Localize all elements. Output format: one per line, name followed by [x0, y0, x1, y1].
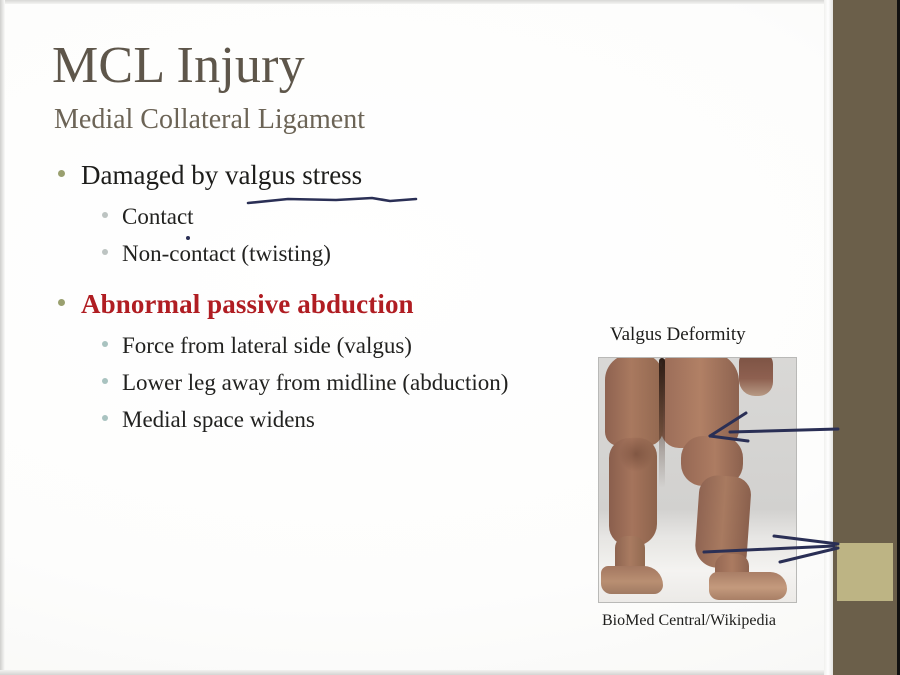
- bullet-dot-icon: [102, 341, 108, 347]
- bullet-dot-icon: [58, 299, 65, 306]
- bullet-level1-emphasis: Abnormal passive abduction: [58, 289, 598, 331]
- band-gap: [824, 0, 833, 675]
- bullet-level2: Non-contact (twisting): [58, 241, 598, 277]
- bullet-dot-icon: [102, 249, 108, 255]
- left-thigh-shape: [605, 357, 663, 446]
- bullet-level1: Damaged by valgus stress: [58, 160, 598, 202]
- page-edge-bottom: [0, 670, 900, 675]
- bullet-content: Damaged by valgus stress Contact Non-con…: [58, 160, 598, 444]
- bullet-group-2: Abnormal passive abduction Force from la…: [58, 289, 598, 443]
- figure-photo: [598, 357, 797, 603]
- bullet-level2-label: Non-contact (twisting): [122, 241, 331, 267]
- bullet-level2-label: Lower leg away from midline (abduction): [122, 370, 508, 396]
- bullet-group-1: Damaged by valgus stress Contact Non-con…: [58, 160, 598, 277]
- slide-canvas: MCL Injury Medial Collateral Ligament Da…: [0, 0, 900, 675]
- page-subtitle: Medial Collateral Ligament: [54, 104, 365, 136]
- left-knee-shading: [619, 436, 653, 472]
- bullet-level1-label: Damaged by valgus stress: [81, 160, 362, 191]
- bullet-dot-icon: [102, 378, 108, 384]
- bullet-level2-label: Force from lateral side (valgus): [122, 333, 412, 359]
- bullet-level2: Force from lateral side (valgus): [58, 333, 598, 369]
- bullet-level2: Medial space widens: [58, 407, 598, 443]
- bullet-level2-label: Contact: [122, 204, 194, 230]
- bullet-level1-label: Abnormal passive abduction: [81, 289, 414, 320]
- figure-caption: BioMed Central/Wikipedia: [602, 612, 776, 630]
- bullet-dot-icon: [102, 415, 108, 421]
- decorative-block-khaki: [837, 543, 893, 601]
- page-edge-top: [0, 0, 900, 4]
- figure-label: Valgus Deformity: [610, 324, 746, 346]
- bullet-dot-icon: [58, 170, 65, 177]
- right-thigh-shape: [661, 357, 739, 448]
- bullet-level2-label: Medial space widens: [122, 407, 315, 433]
- right-foot-shape: [709, 572, 787, 600]
- hand-shape: [739, 357, 773, 396]
- bullet-dot-icon: [102, 212, 108, 218]
- left-foot-shape: [601, 566, 663, 594]
- page-title: MCL Injury: [52, 38, 305, 94]
- inter-leg-shadow: [659, 358, 665, 488]
- page-edge-left: [0, 0, 5, 675]
- bullet-level2: Contact: [58, 204, 598, 240]
- bullet-level2: Lower leg away from midline (abduction): [58, 370, 598, 406]
